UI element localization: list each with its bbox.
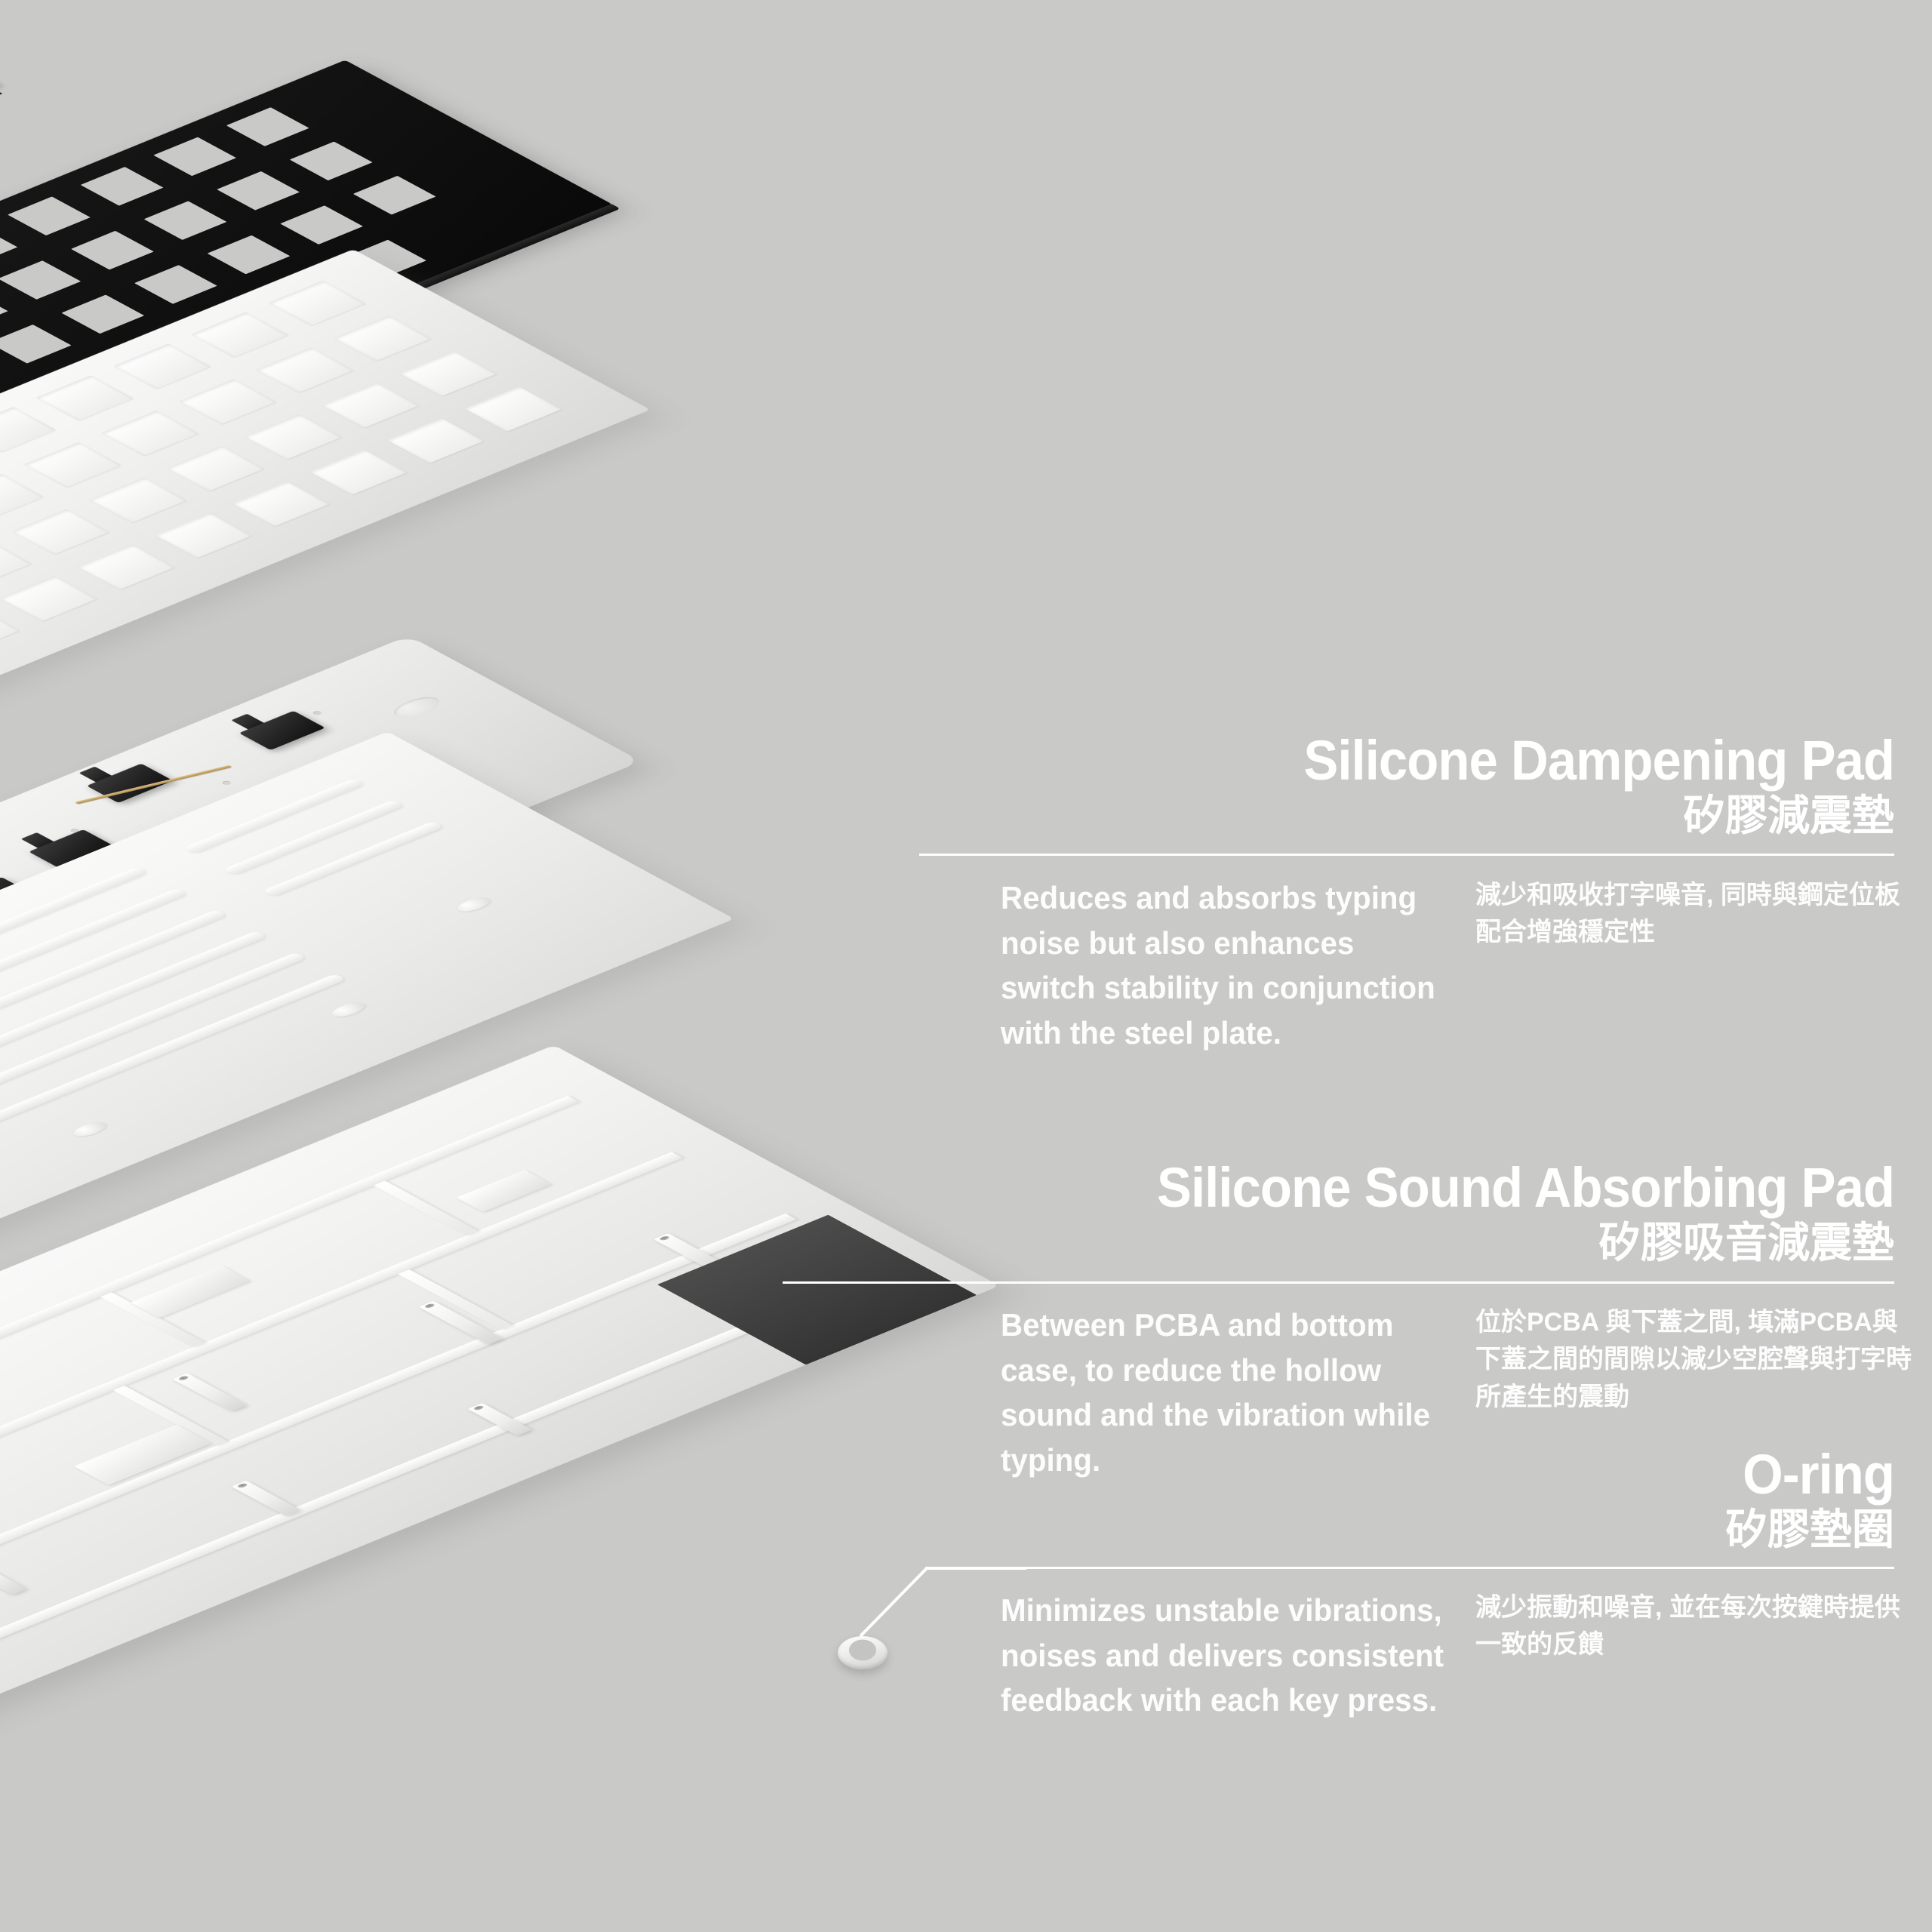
section-divider-2 [925, 1567, 1894, 1569]
section-body-en-0: Reduces and absorbs typing noise but als… [1001, 875, 1435, 1056]
section-divider-1 [783, 1281, 1894, 1284]
section-body-zh-0: 減少和吸收打字噪音, 同時與鋼定位板配合增強穩定性 [1475, 877, 1913, 952]
section-body-zh-2: 減少振動和噪音, 並在每次按鍵時提供一致的反饋 [1475, 1589, 1913, 1664]
section-body-en-2: Minimizes unstable vibrations, noises an… [1001, 1588, 1450, 1723]
section-divider-0 [919, 854, 1894, 856]
section-title-en-2: O-ring [1403, 1447, 1894, 1503]
section-body-zh-1: 位於PCBA 與下蓋之間, 填滿PCBA與下蓋之間的間隙以減少空腔聲與打字時所產… [1475, 1304, 1913, 1416]
section-title-zh-0: 矽膠減震墊 [913, 794, 1894, 838]
section-title-zh-2: 矽膠墊圈 [1366, 1508, 1894, 1552]
section-title-en-1: Silicone Sound Absorbing Pad [926, 1161, 1894, 1216]
section-title-zh-1: 矽膠吸音減震墊 [853, 1221, 1894, 1266]
o-ring-leader-line [830, 1547, 1026, 1698]
section-title-en-0: Silicone Dampening Pad [982, 734, 1894, 789]
section-body-en-1: Between PCBA and bottom case, to reduce … [1001, 1303, 1435, 1483]
infographic-canvas: Silicone Dampening Pad 矽膠減震墊 Reduces and… [0, 0, 1932, 1932]
